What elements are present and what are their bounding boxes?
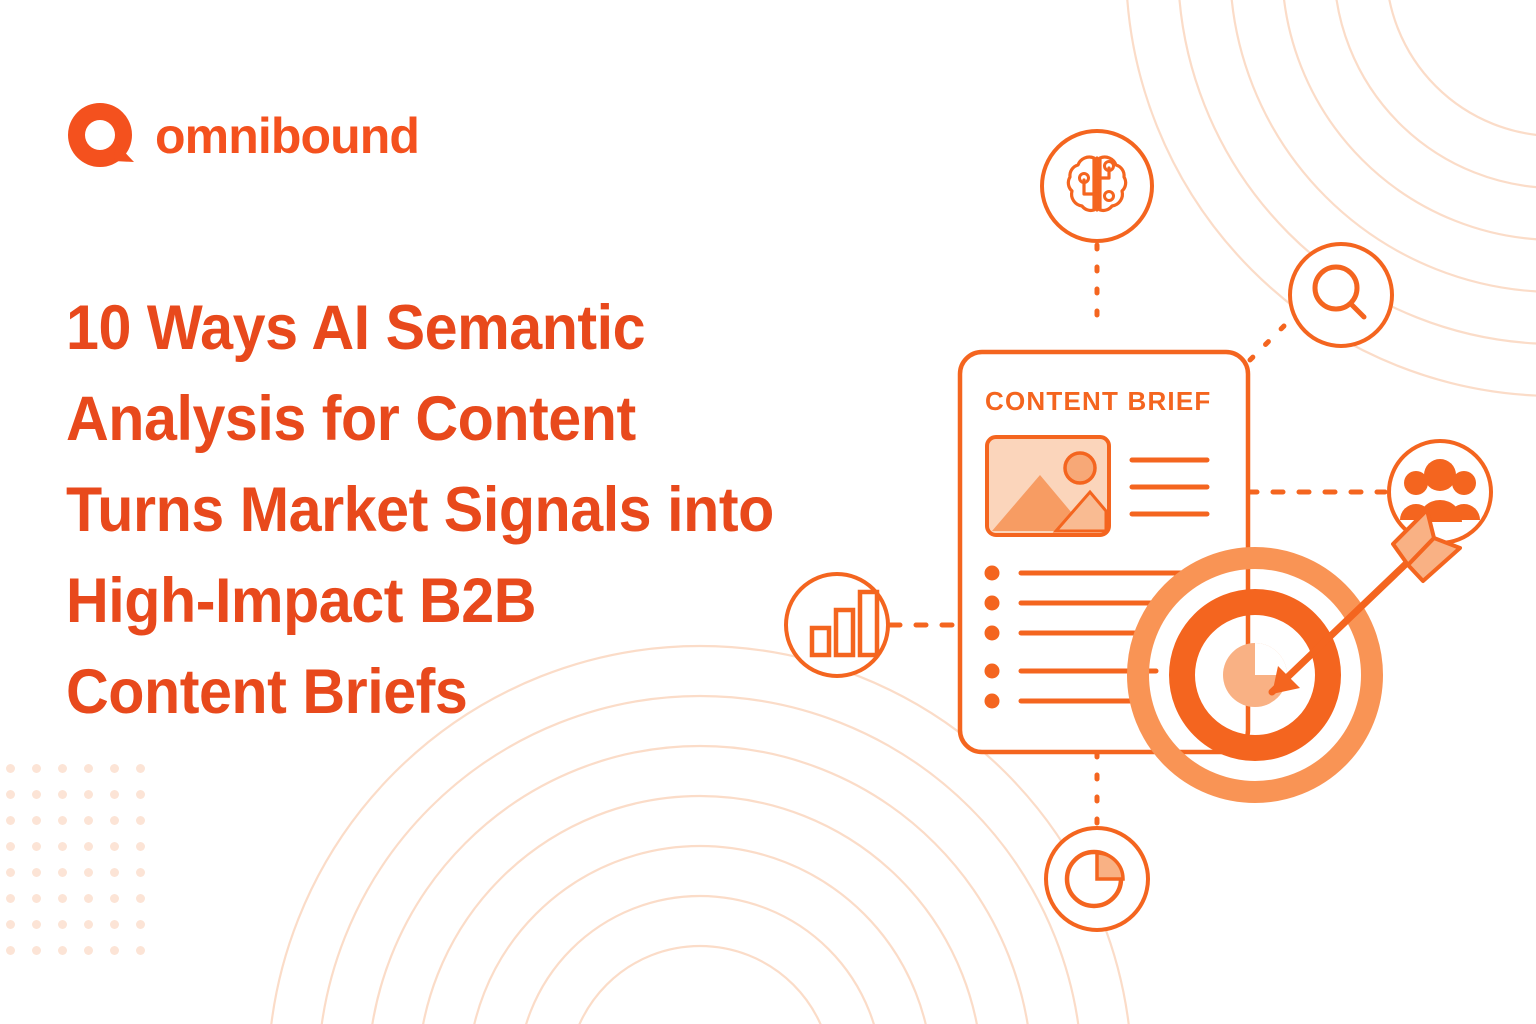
dot-grid-dot xyxy=(110,894,119,903)
dot-grid-dot xyxy=(84,946,93,955)
dot-grid-dot xyxy=(110,946,119,955)
pie-chart-icon[interactable] xyxy=(1046,828,1148,930)
dot-grid-dot xyxy=(32,816,41,825)
dot-grid-dot xyxy=(58,868,67,877)
dot-grid-dot xyxy=(6,816,15,825)
dot-grid-dot xyxy=(6,842,15,851)
dot-grid-dot xyxy=(84,816,93,825)
dot-grid-dot xyxy=(136,868,145,877)
brand-logo[interactable]: omnibound xyxy=(64,99,419,173)
dot-grid-dot xyxy=(110,816,119,825)
dot-grid-dot xyxy=(84,920,93,929)
dot-grid-dot xyxy=(32,920,41,929)
dot-grid-dot xyxy=(110,868,119,877)
dot-grid-dot xyxy=(32,790,41,799)
dot-grid-dot xyxy=(84,764,93,773)
dot-grid-dot xyxy=(58,894,67,903)
dot-grid-dot xyxy=(32,946,41,955)
dot-grid-dot xyxy=(58,790,67,799)
dot-grid-dot xyxy=(136,764,145,773)
poster-canvas: omnibound 10 Ways AI Semantic Analysis f… xyxy=(0,0,1536,1024)
bar-chart-icon[interactable] xyxy=(786,574,888,676)
dot-grid-dot xyxy=(136,920,145,929)
hero-illustration: CONTENT BRIEF xyxy=(760,120,1536,950)
dot-grid-dot xyxy=(84,894,93,903)
dot-grid-dot xyxy=(6,790,15,799)
dot-grid-dot xyxy=(58,920,67,929)
people-group-icon[interactable] xyxy=(1389,441,1491,543)
dot-grid-dot xyxy=(6,894,15,903)
dot-grid-dot xyxy=(32,868,41,877)
dot-grid-dot xyxy=(110,790,119,799)
card-title: CONTENT BRIEF xyxy=(985,386,1211,416)
dot-grid-dot xyxy=(84,842,93,851)
dot-grid-pattern xyxy=(0,758,160,958)
dot-grid-dot xyxy=(6,946,15,955)
dot-grid-dot xyxy=(136,946,145,955)
dot-grid-dot xyxy=(58,946,67,955)
dot-grid-dot xyxy=(110,764,119,773)
page-title: 10 Ways AI Semantic Analysis for Content… xyxy=(66,283,818,738)
dot-grid-dot xyxy=(84,868,93,877)
headline-line-4: High-Impact B2B xyxy=(66,556,818,647)
brand-name: omnibound xyxy=(155,111,419,161)
dot-grid-dot xyxy=(136,894,145,903)
headline-line-5: Content Briefs xyxy=(66,647,818,738)
content-brief-card: CONTENT BRIEF xyxy=(960,352,1248,752)
dot-grid-dot xyxy=(32,894,41,903)
dot-grid-dot xyxy=(6,920,15,929)
dot-grid-dot xyxy=(110,842,119,851)
dot-grid-dot xyxy=(58,764,67,773)
brain-circuit-icon[interactable] xyxy=(1042,131,1152,241)
dot-grid-dot xyxy=(58,816,67,825)
dot-grid-dot xyxy=(136,842,145,851)
dot-grid-dot xyxy=(110,920,119,929)
dot-grid-dot xyxy=(32,764,41,773)
headline-line-2: Analysis for Content xyxy=(66,374,818,465)
magnifying-glass-icon[interactable] xyxy=(1290,244,1392,346)
omnibound-q-mark-icon xyxy=(64,99,138,173)
dot-grid-dot xyxy=(6,868,15,877)
dot-grid-dot xyxy=(32,842,41,851)
image-placeholder-icon xyxy=(987,437,1109,535)
headline-line-1: 10 Ways AI Semantic xyxy=(66,283,818,374)
dot-grid-dot xyxy=(84,790,93,799)
dot-grid-dot xyxy=(136,816,145,825)
headline-line-3: Turns Market Signals into xyxy=(66,465,818,556)
dot-grid-dot xyxy=(6,764,15,773)
dot-grid-dot xyxy=(58,842,67,851)
dot-grid-dot xyxy=(136,790,145,799)
